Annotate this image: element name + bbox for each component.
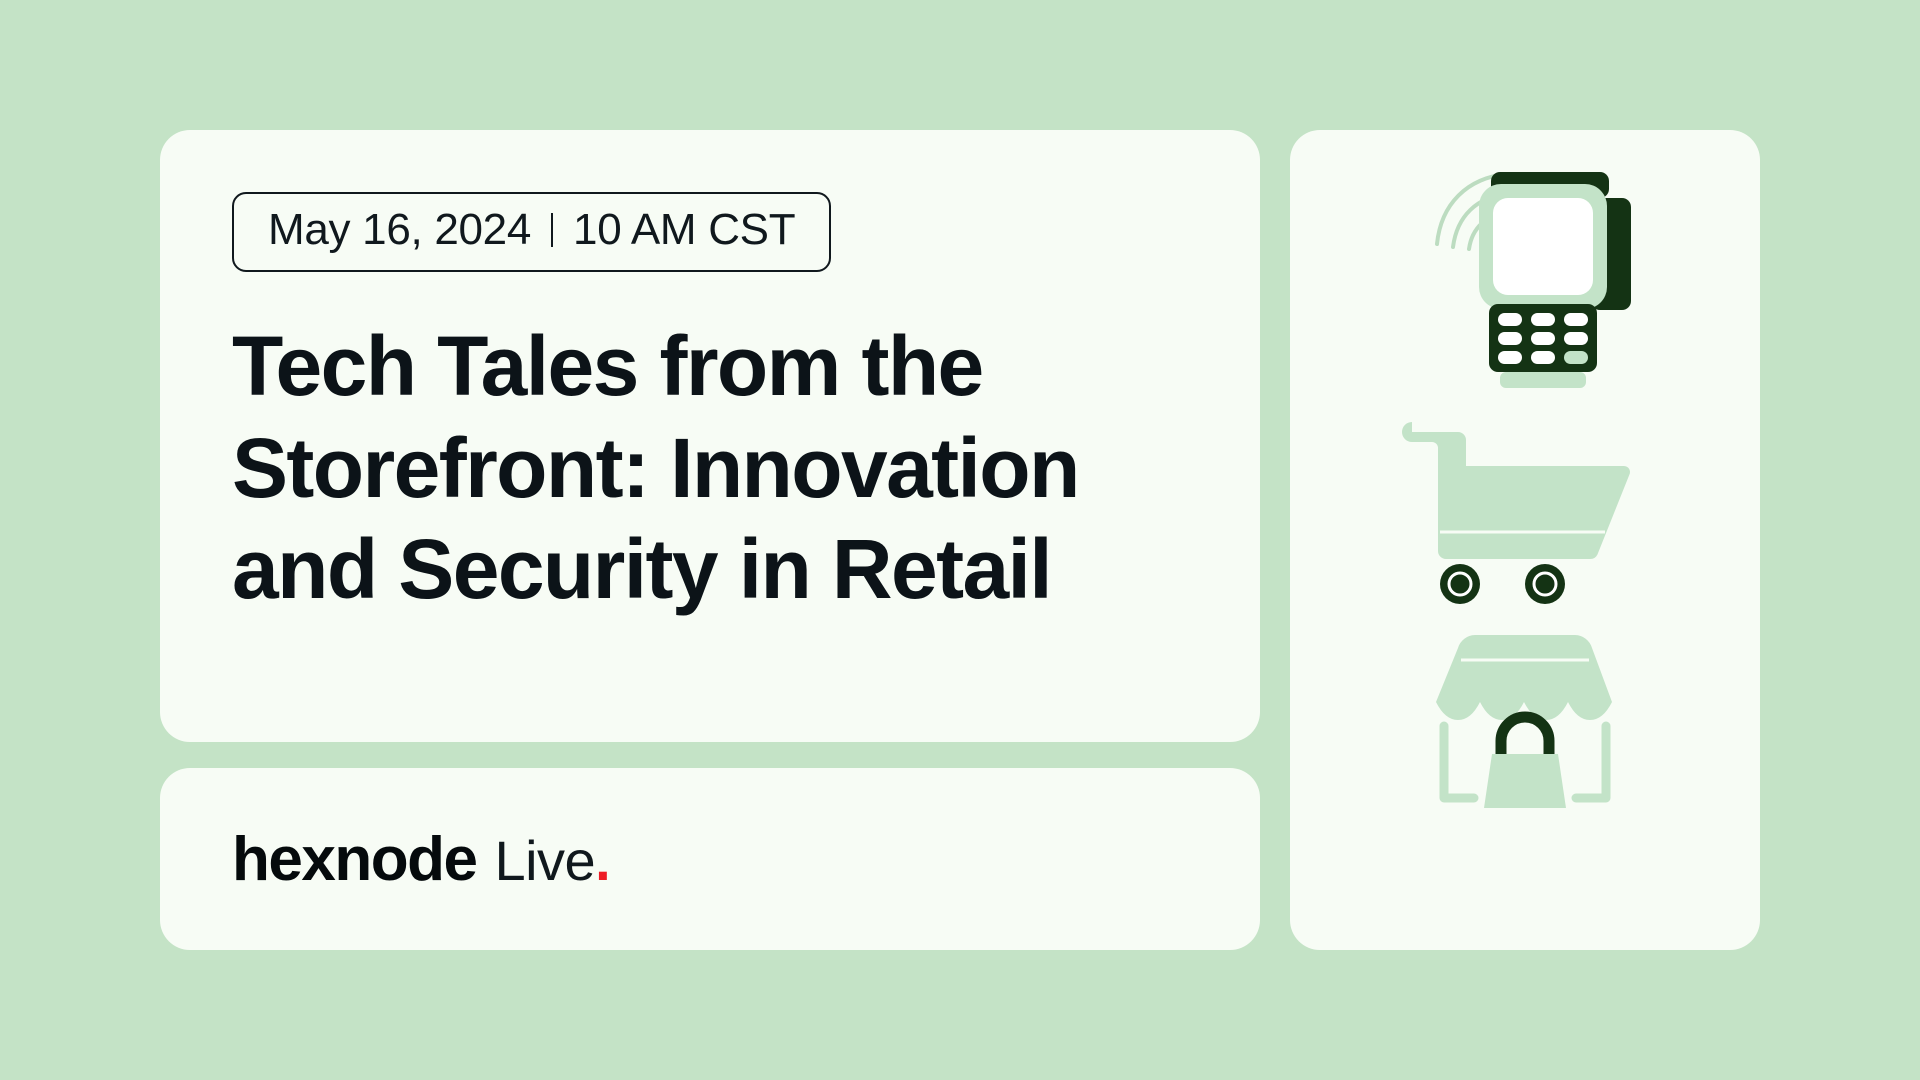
terminal-keys	[1498, 313, 1588, 364]
shopping-bag-handle	[1501, 717, 1549, 756]
hero-card: May 16, 2024 10 AM CST Tech Tales from t…	[160, 130, 1260, 742]
storefront-illustration	[1400, 614, 1650, 809]
payment-terminal-illustration	[1395, 152, 1655, 402]
page-title: Tech Tales from the Storefront: Innovati…	[232, 316, 1188, 621]
terminal-base	[1500, 372, 1586, 388]
live-wordmark: Live.	[494, 828, 610, 893]
cart-wheels	[1440, 564, 1565, 604]
left-column: May 16, 2024 10 AM CST Tech Tales from t…	[160, 130, 1260, 950]
terminal-screen	[1493, 198, 1593, 295]
illustration-card	[1290, 130, 1760, 950]
shopping-bag-body	[1484, 754, 1566, 808]
hexnode-wordmark: hexnode	[232, 824, 476, 895]
live-dot: .	[595, 829, 610, 892]
event-time: 10 AM CST	[573, 208, 795, 252]
webinar-banner: May 16, 2024 10 AM CST Tech Tales from t…	[0, 0, 1920, 1080]
date-time-badge: May 16, 2024 10 AM CST	[232, 192, 831, 272]
live-label: Live	[494, 829, 595, 892]
storefront-post-right	[1576, 726, 1606, 798]
awning	[1436, 635, 1612, 720]
date-time-separator-icon	[551, 213, 553, 247]
hexnode-live-logo: hexnode Live.	[232, 824, 610, 895]
storefront-post-left	[1444, 726, 1474, 798]
brand-card: hexnode Live.	[160, 768, 1260, 950]
shopping-cart-illustration	[1400, 408, 1650, 608]
event-date: May 16, 2024	[268, 208, 531, 252]
cart-basket	[1402, 422, 1630, 559]
